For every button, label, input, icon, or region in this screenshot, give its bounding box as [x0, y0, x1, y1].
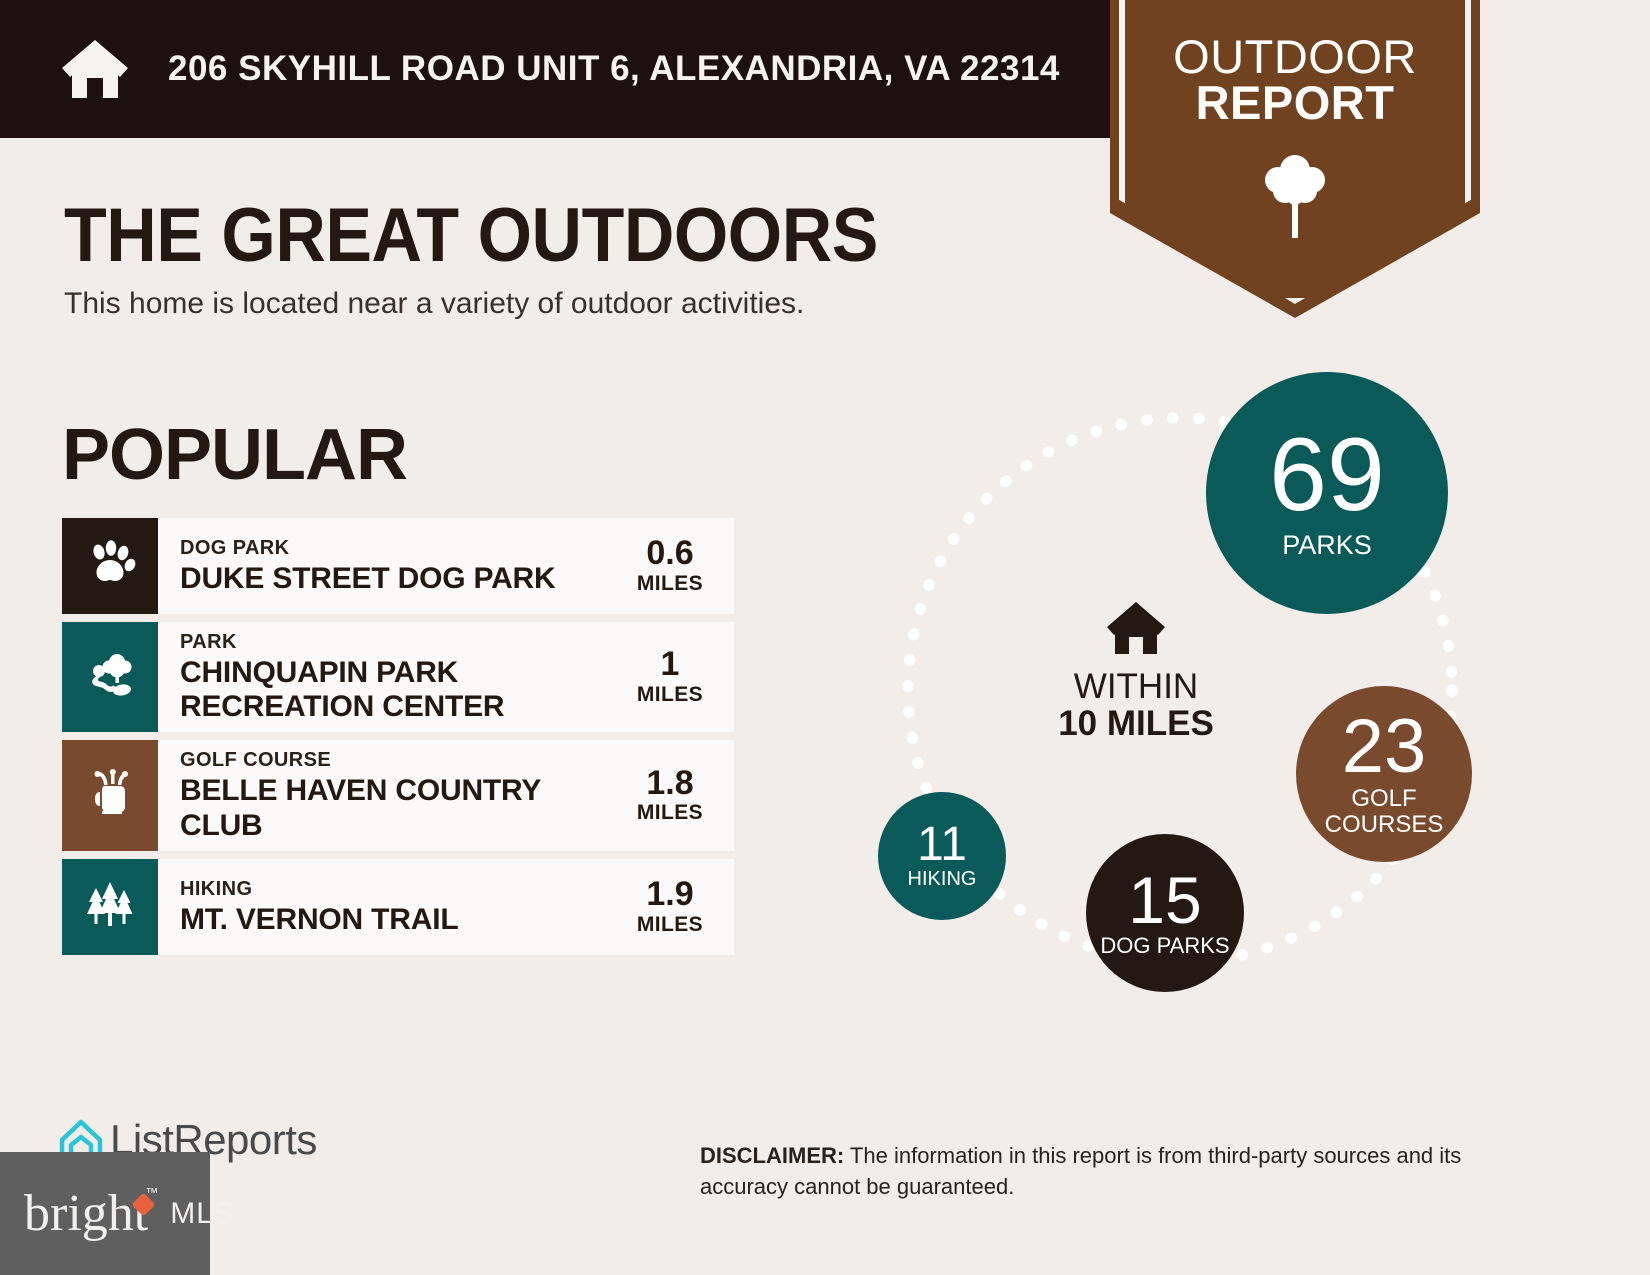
popular-list: DOG PARK DUKE STREET DOG PARK 0.6 MILES — [62, 518, 734, 963]
stat-bubble-dog-parks[interactable]: 15 DOG PARKS — [1086, 834, 1244, 992]
distance-value: 1 — [618, 647, 722, 683]
home-icon — [1105, 600, 1167, 661]
distance-value: 1.9 — [618, 877, 722, 913]
distance-unit: MILES — [618, 913, 722, 937]
disclaimer: DISCLAIMER: The information in this repo… — [700, 1140, 1520, 1202]
distance-unit: MILES — [618, 572, 722, 596]
bright-wordmark: bright ™ — [24, 1188, 148, 1240]
chart-center-label: WITHIN 10 MILES — [1036, 600, 1236, 743]
mls-suffix: MLS — [170, 1197, 235, 1231]
list-item[interactable]: GOLF COURSE BELLE HAVEN COUNTRY CLUB 1.8… — [62, 740, 734, 850]
list-item-distance: 1.8 MILES — [618, 766, 730, 826]
park-tree-icon — [84, 649, 136, 706]
stat-bubble-hiking[interactable]: 11 HIKING — [878, 792, 1006, 920]
list-item-distance: 1 MILES — [618, 647, 730, 707]
golf-bag-icon — [84, 767, 136, 824]
stat-label: GOLF COURSES — [1296, 786, 1472, 836]
distance-value: 0.6 — [618, 536, 722, 572]
center-line-2: 10 MILES — [1058, 706, 1214, 743]
paw-icon — [84, 538, 136, 595]
list-item-name: DUKE STREET DOG PARK — [180, 562, 618, 596]
stat-value: 11 — [917, 822, 967, 868]
trademark-symbol: ™ — [145, 1186, 158, 1199]
list-item-name: CHINQUAPIN PARK RECREATION CENTER — [180, 656, 618, 724]
list-item[interactable]: HIKING MT. VERNON TRAIL 1.9 MILES — [62, 859, 734, 955]
home-icon — [60, 38, 130, 100]
stat-value: 15 — [1128, 869, 1201, 932]
disclaimer-label: DISCLAIMER: — [700, 1143, 844, 1168]
tree-icon — [1258, 148, 1332, 240]
popular-heading: POPULAR — [62, 414, 407, 496]
distance-value: 1.8 — [618, 766, 722, 802]
list-item[interactable]: DOG PARK DUKE STREET DOG PARK 0.6 MILES — [62, 518, 734, 614]
stat-bubble-golf-courses[interactable]: 23 GOLF COURSES — [1296, 686, 1472, 862]
list-item-distance: 1.9 MILES — [618, 877, 730, 937]
outdoor-report-badge: OUTDOOR REPORT — [1110, 0, 1480, 318]
list-item-body: HIKING MT. VERNON TRAIL 1.9 MILES — [158, 859, 734, 955]
distance-unit: MILES — [618, 801, 722, 825]
stat-value: 69 — [1269, 426, 1385, 525]
list-item-text: DOG PARK DUKE STREET DOG PARK — [180, 536, 618, 596]
within-10-miles-chart: WITHIN 10 MILES 69 PARKS 23 GOLF COURSES… — [830, 360, 1530, 1060]
list-item-category: PARK — [180, 630, 618, 655]
list-item-category: DOG PARK — [180, 536, 618, 561]
list-item-name: MT. VERNON TRAIL — [180, 903, 618, 937]
list-item-body: GOLF COURSE BELLE HAVEN COUNTRY CLUB 1.8… — [158, 740, 734, 850]
list-item-icon-tile — [62, 518, 158, 614]
list-item-body: DOG PARK DUKE STREET DOG PARK 0.6 MILES — [158, 518, 734, 614]
list-item-category: GOLF COURSE — [180, 748, 618, 773]
distance-unit: MILES — [618, 683, 722, 707]
stat-bubble-parks[interactable]: 69 PARKS — [1206, 372, 1448, 614]
stat-label: PARKS — [1282, 531, 1372, 559]
pine-trees-icon — [84, 878, 136, 935]
list-item-icon-tile — [62, 859, 158, 955]
list-item-body: PARK CHINQUAPIN PARK RECREATION CENTER 1… — [158, 622, 734, 732]
list-item-text: HIKING MT. VERNON TRAIL — [180, 877, 618, 937]
list-item-text: PARK CHINQUAPIN PARK RECREATION CENTER — [180, 630, 618, 724]
page-title: THE GREAT OUTDOORS — [64, 192, 878, 279]
list-item-name: BELLE HAVEN COUNTRY CLUB — [180, 774, 618, 842]
page-subtitle: This home is located near a variety of o… — [64, 287, 804, 321]
list-item-icon-tile — [62, 740, 158, 850]
list-item[interactable]: PARK CHINQUAPIN PARK RECREATION CENTER 1… — [62, 622, 734, 732]
header-bar: 206 SKYHILL ROAD UNIT 6, ALEXANDRIA, VA … — [0, 0, 1188, 138]
stat-label: DOG PARKS — [1100, 934, 1229, 957]
list-item-text: GOLF COURSE BELLE HAVEN COUNTRY CLUB — [180, 748, 618, 842]
bright-mls-badge[interactable]: bright ™ MLS — [0, 1152, 210, 1275]
stat-label: HIKING — [908, 869, 977, 890]
list-item-distance: 0.6 MILES — [618, 536, 730, 596]
list-item-category: HIKING — [180, 877, 618, 902]
badge-line-1: OUTDOOR — [1173, 30, 1417, 83]
property-address: 206 SKYHILL ROAD UNIT 6, ALEXANDRIA, VA … — [168, 49, 1060, 89]
list-item-icon-tile — [62, 622, 158, 732]
badge-line-2: REPORT — [1173, 80, 1417, 126]
badge-title: OUTDOOR REPORT — [1173, 34, 1417, 126]
center-line-1: WITHIN — [1074, 669, 1198, 706]
stat-value: 23 — [1342, 711, 1427, 783]
